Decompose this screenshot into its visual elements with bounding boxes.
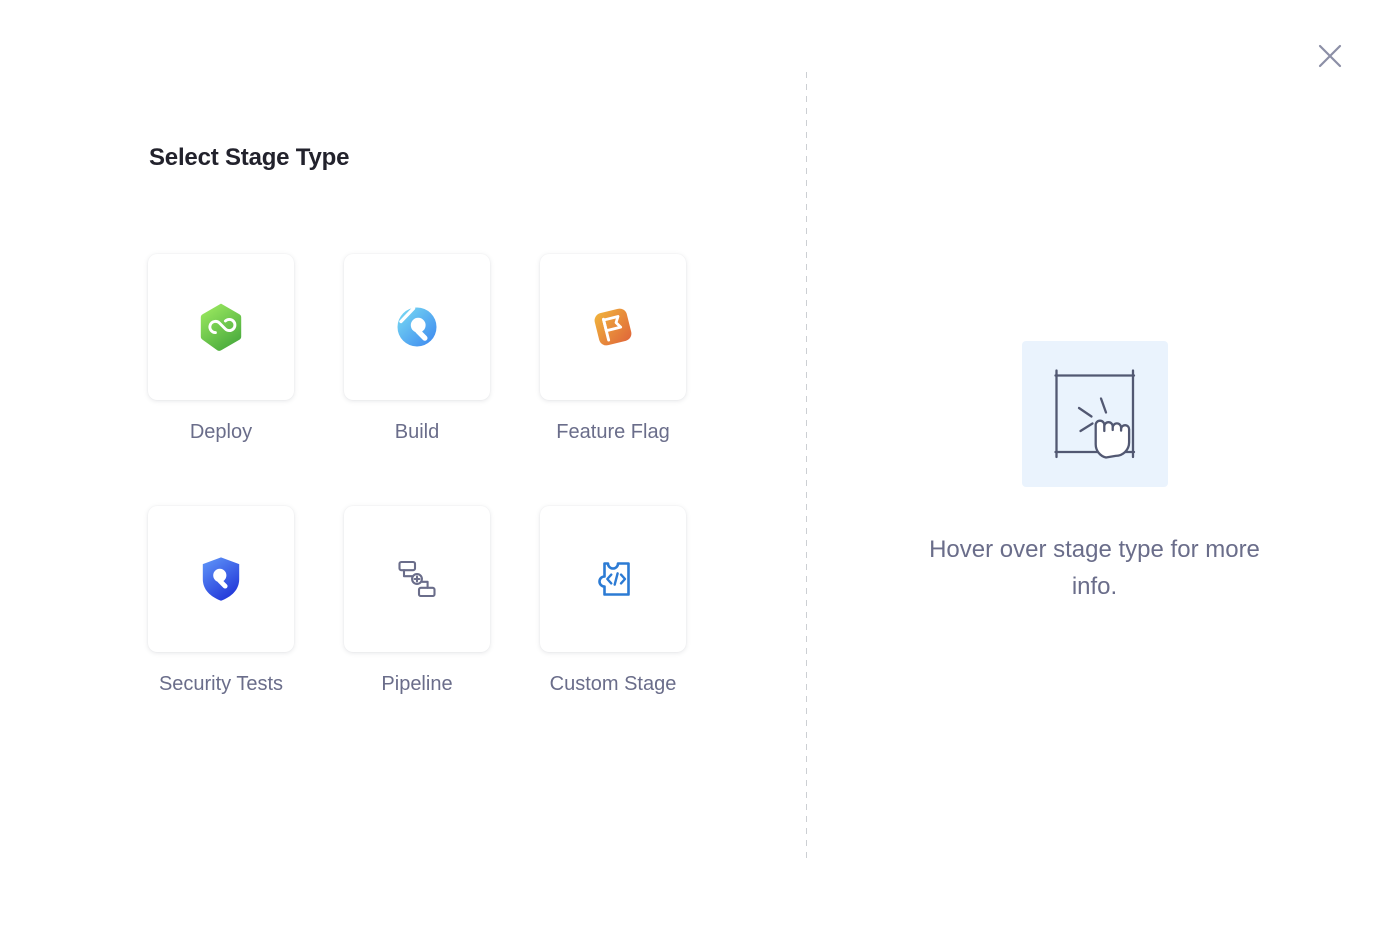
stage-label-build: Build — [351, 417, 483, 448]
deploy-hexagon-infinity-icon — [198, 302, 244, 352]
stage-option-build[interactable]: Build — [344, 254, 490, 448]
stage-type-picker-panel: Select Stage Type — [0, 0, 806, 950]
stage-card-pipeline[interactable] — [344, 506, 490, 652]
stage-label-security-tests: Security Tests — [155, 669, 287, 700]
page-title: Select Stage Type — [149, 144, 349, 172]
stage-info-panel: Hover over stage type for more info. — [807, 0, 1382, 950]
stage-card-feature-flag[interactable] — [540, 254, 686, 400]
stage-card-deploy[interactable] — [148, 254, 294, 400]
build-circle-magnifier-icon — [394, 304, 440, 350]
select-stage-type-dialog: Select Stage Type — [0, 0, 1382, 950]
feature-flag-icon — [590, 304, 636, 350]
custom-stage-puzzle-code-icon — [592, 558, 634, 600]
stage-label-custom-stage: Custom Stage — [547, 669, 679, 700]
stage-label-deploy: Deploy — [155, 417, 287, 448]
stage-type-grid: Deploy — [148, 254, 686, 700]
stage-label-pipeline: Pipeline — [351, 669, 483, 700]
stage-option-deploy[interactable]: Deploy — [148, 254, 294, 448]
stage-option-pipeline[interactable]: Pipeline — [344, 506, 490, 700]
stage-label-feature-flag: Feature Flag — [547, 417, 679, 448]
stage-option-security-tests[interactable]: Security Tests — [148, 506, 294, 700]
stage-card-build[interactable] — [344, 254, 490, 400]
hover-hint-text: Hover over stage type for more info. — [915, 531, 1275, 605]
stage-card-custom-stage[interactable] — [540, 506, 686, 652]
stage-option-feature-flag[interactable]: Feature Flag — [540, 254, 686, 448]
stage-option-custom-stage[interactable]: Custom Stage — [540, 506, 686, 700]
pipeline-nodes-icon — [393, 555, 441, 603]
hand-click-frame-illustration — [1022, 341, 1168, 487]
stage-card-security-tests[interactable] — [148, 506, 294, 652]
security-shield-magnifier-icon — [199, 555, 243, 603]
